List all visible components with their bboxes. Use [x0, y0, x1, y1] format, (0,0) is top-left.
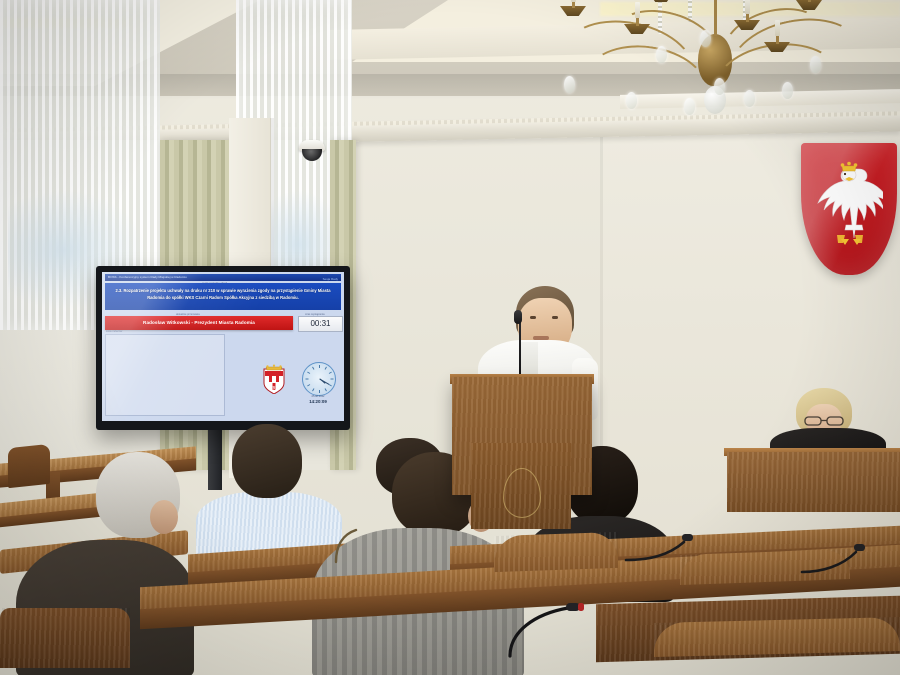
chair-back-centre — [494, 532, 618, 572]
gooseneck-microphone-icon-4 — [330, 524, 370, 564]
speaker-list-panel — [105, 334, 225, 416]
display-screen: BOSS - Konferencyjny system Rady Miejski… — [102, 272, 344, 421]
podium-microphone-stem — [519, 318, 521, 380]
app-title-bar: BOSS - Konferencyjny system Rady Miejski… — [105, 274, 341, 281]
analog-clock-icon — [302, 362, 336, 396]
speaker-list-label: Lista mówców — [106, 330, 122, 333]
clock-widget: 25.08.2022 14:20:09 — [300, 362, 336, 410]
speaker-eye-left — [530, 316, 536, 319]
agenda-item-text: 2.3. Rozpatrzenie projektu uchwały na dr… — [105, 283, 341, 310]
white-eagle-icon — [815, 155, 883, 255]
current-speaker-banner: Radosław Witkowski - Prezydent Miasta Ra… — [105, 316, 293, 330]
tv-stand — [208, 430, 222, 490]
clock-time: 14:20:09 — [300, 399, 336, 404]
app-title-right: Sesja Rady — [323, 276, 338, 281]
audience-member-ear — [150, 500, 178, 534]
chair-far-left — [8, 444, 50, 488]
presentation-display: BOSS - Konferencyjny system Rady Miejski… — [96, 266, 350, 430]
gooseneck-microphone-icon — [622, 520, 708, 564]
audience-blue-shirt-hair — [232, 424, 302, 498]
speaker-eye-right — [552, 316, 558, 319]
speech-timer: 00:31 — [298, 316, 343, 332]
chair-back-front-right — [654, 617, 900, 657]
gooseneck-microphone-icon-2 — [800, 532, 880, 576]
gooseneck-microphone-icon-3 — [494, 598, 624, 658]
radom-coat-of-arms-icon: R — [262, 364, 286, 394]
podium-microphone-head — [514, 310, 522, 324]
clock-date: 25.08.2022 — [300, 395, 336, 398]
chair-back-front-left — [0, 608, 130, 668]
council-chamber-photo: BOSS - Konferencyjny system Rady Miejski… — [0, 0, 900, 675]
side-desk — [727, 452, 900, 512]
eyeglasses-icon — [802, 414, 848, 428]
chandelier — [538, 0, 898, 122]
app-title-text: BOSS - Konferencyjny system Rady Miejski… — [108, 275, 187, 279]
